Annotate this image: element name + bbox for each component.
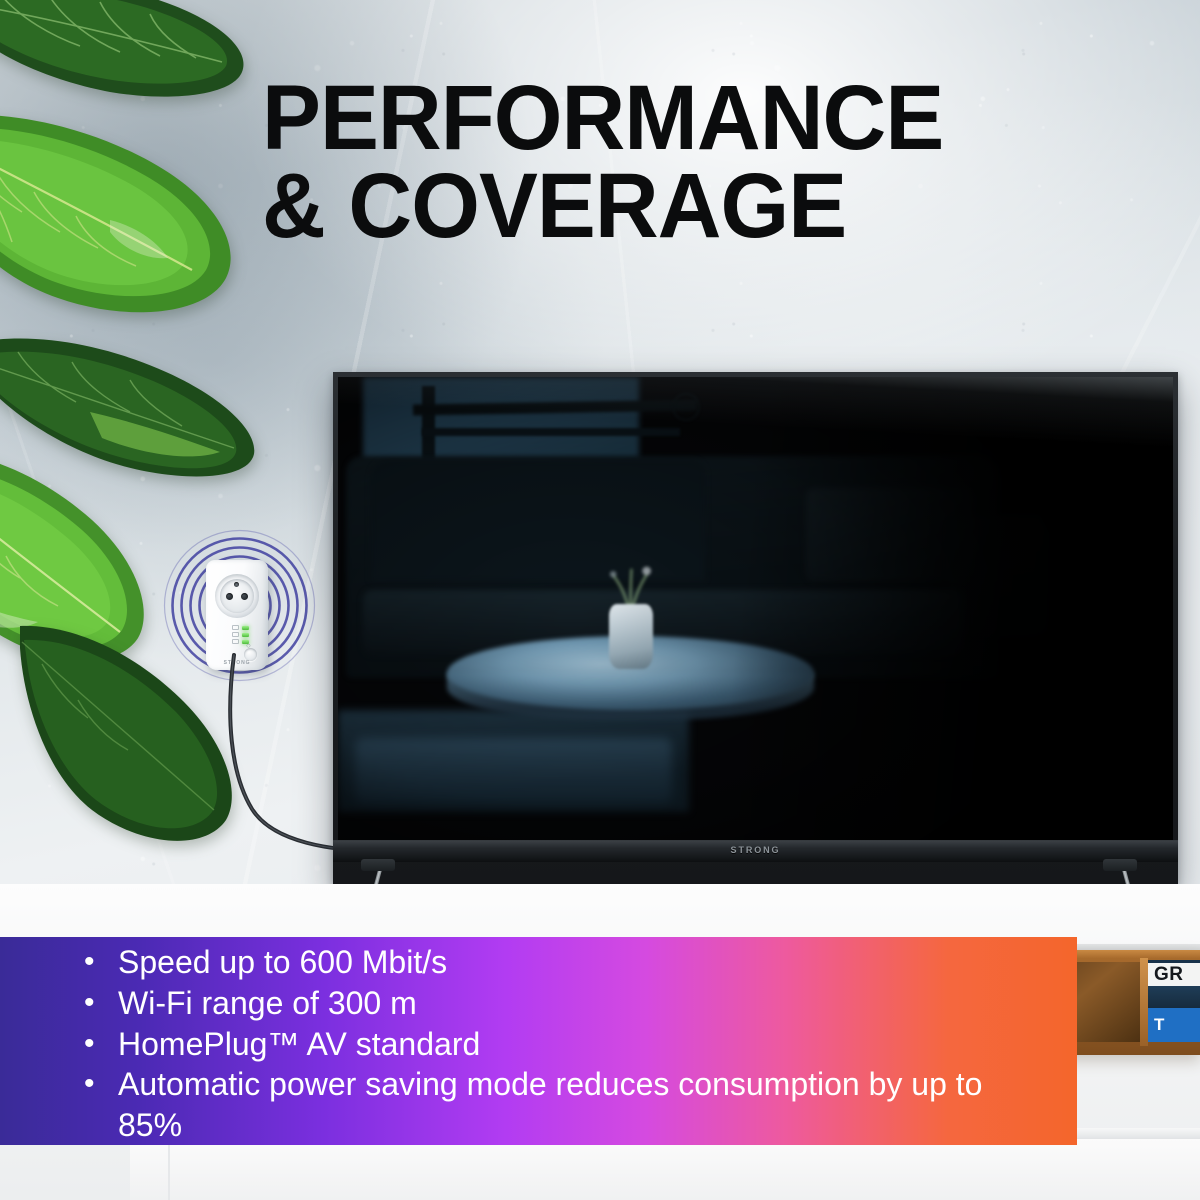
socket-pin [241,593,248,600]
television: STRONG [333,372,1178,884]
tv-leg-mount [361,859,395,871]
book-spine: T [1148,1008,1200,1042]
led-icon [232,632,239,637]
powerline-led [242,633,249,637]
socket-pin [226,593,233,600]
socket-earth-pin [234,582,239,587]
feature-text: Speed up to 600 Mbit/s [118,942,1044,983]
powerline-adapter: ○ STRONG [206,560,268,670]
tv-leg-mount [1103,859,1137,871]
list-item: • HomePlug™ AV standard [84,1024,1044,1065]
console-divider [1140,958,1148,1046]
page-title: PERFORMANCE & COVERAGE [262,74,992,251]
feature-list: • Speed up to 600 Mbit/s • Wi-Fi range o… [84,942,1044,1146]
feature-text: Automatic power saving mode reduces cons… [118,1064,1044,1146]
power-led [242,626,249,630]
bullet-icon: • [84,983,118,1022]
leaf-icon [0,100,250,360]
list-item: • Wi-Fi range of 300 m [84,983,1044,1024]
bullet-icon: • [84,1064,118,1103]
bullet-icon: • [84,942,118,981]
product-marketing-image: ○ STRONG [0,0,1200,1200]
headline-line-1: PERFORMANCE [262,67,943,169]
led-icon [232,625,239,630]
cabinet-front [130,1138,1200,1200]
headline-line-2: & COVERAGE [262,162,992,250]
tv-scene [338,377,1173,840]
feature-text: Wi-Fi range of 300 m [118,983,1044,1024]
led-icon [232,639,239,644]
tv-brand-label: STRONG [731,845,781,855]
feature-text: HomePlug™ AV standard [118,1024,1044,1065]
tv-screen [338,377,1173,840]
list-item: • Automatic power saving mode reduces co… [84,1064,1044,1146]
cabinet-seam [168,1138,170,1200]
list-item: • Speed up to 600 Mbit/s [84,942,1044,983]
bullet-icon: • [84,1024,118,1063]
scene-vignette [338,377,1173,840]
book-spine [1148,986,1200,1008]
book-spine: GR [1148,960,1200,986]
